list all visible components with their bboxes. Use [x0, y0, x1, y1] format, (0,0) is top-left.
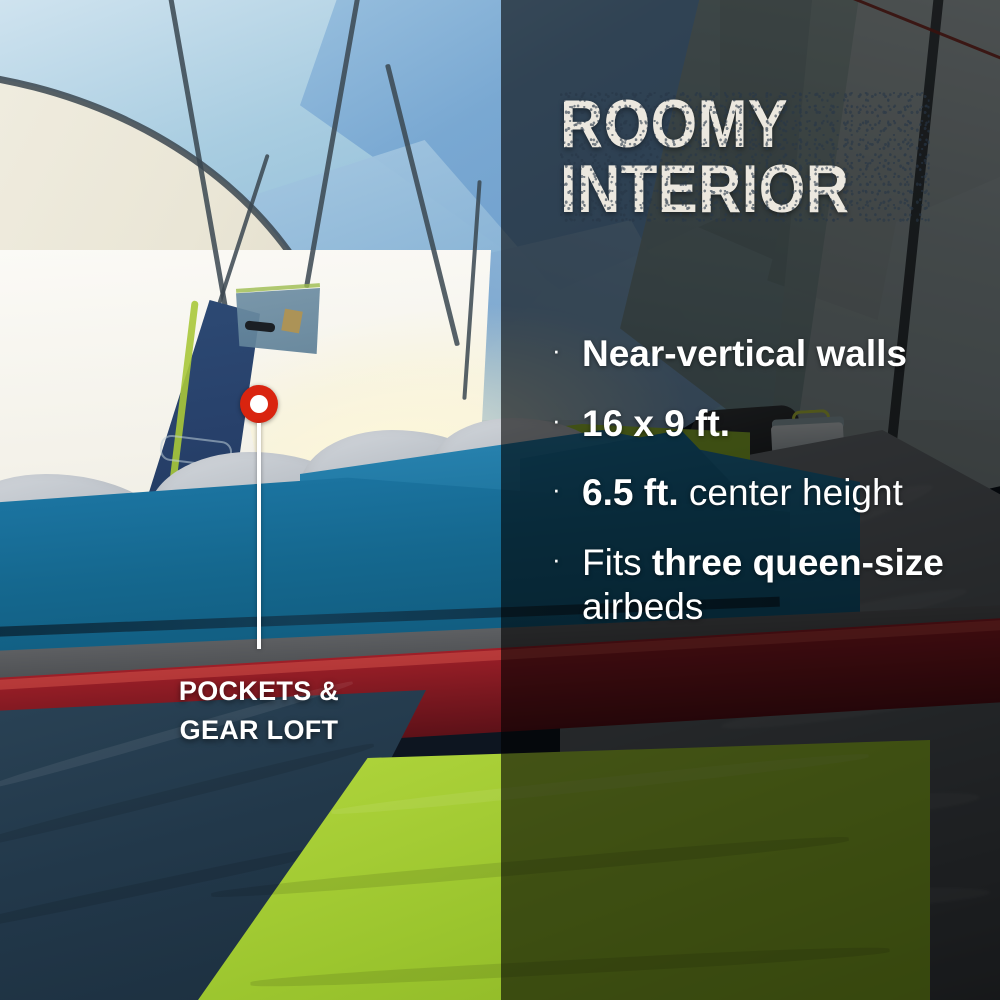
feature-list: · Near-vertical walls · 16 x 9 ft. · 6.5…	[552, 332, 972, 654]
feature-text-segment: Near-vertical walls	[582, 333, 907, 374]
callout-label-line-1: POCKETS &	[59, 672, 459, 711]
feature-text-segment: airbeds	[582, 586, 703, 627]
callout-label: POCKETS & GEAR LOFT	[59, 672, 459, 750]
feature-dimensions: 16 x 9 ft.	[582, 402, 972, 446]
list-item: · 16 x 9 ft.	[552, 402, 972, 446]
feature-text-segment: 6.5 ft.	[582, 472, 689, 513]
page-title-line-1: ROOMY	[560, 92, 930, 157]
list-item: · Fits three queen-size airbeds	[552, 541, 972, 628]
bullet-dot-icon: ·	[552, 402, 582, 440]
page-title-line-2: INTERIOR	[560, 157, 930, 222]
list-item: · 6.5 ft. center height	[552, 471, 972, 515]
bullet-dot-icon: ·	[552, 471, 582, 509]
feature-airbed-capacity: Fits three queen-size airbeds	[582, 541, 972, 628]
feature-text-segment: 16 x 9 ft.	[582, 403, 730, 444]
feature-center-height: 6.5 ft. center height	[582, 471, 972, 515]
callout-leader-line	[257, 423, 261, 649]
feature-text-segment: center height	[689, 472, 903, 513]
page-title: ROOMY INTERIOR	[560, 92, 930, 223]
item-in-pocket	[281, 309, 303, 334]
feature-text-segment: three queen-size	[652, 542, 944, 583]
feature-text-segment: Fits	[582, 542, 652, 583]
infographic-canvas: ROOMY INTERIOR · Near-vertical walls · 1…	[0, 0, 1000, 1000]
callout-marker-icon	[240, 385, 278, 423]
feature-near-vertical-walls: Near-vertical walls	[582, 332, 972, 376]
bullet-dot-icon: ·	[552, 541, 582, 579]
list-item: · Near-vertical walls	[552, 332, 972, 376]
callout-label-line-2: GEAR LOFT	[59, 711, 459, 750]
bullet-dot-icon: ·	[552, 332, 582, 370]
